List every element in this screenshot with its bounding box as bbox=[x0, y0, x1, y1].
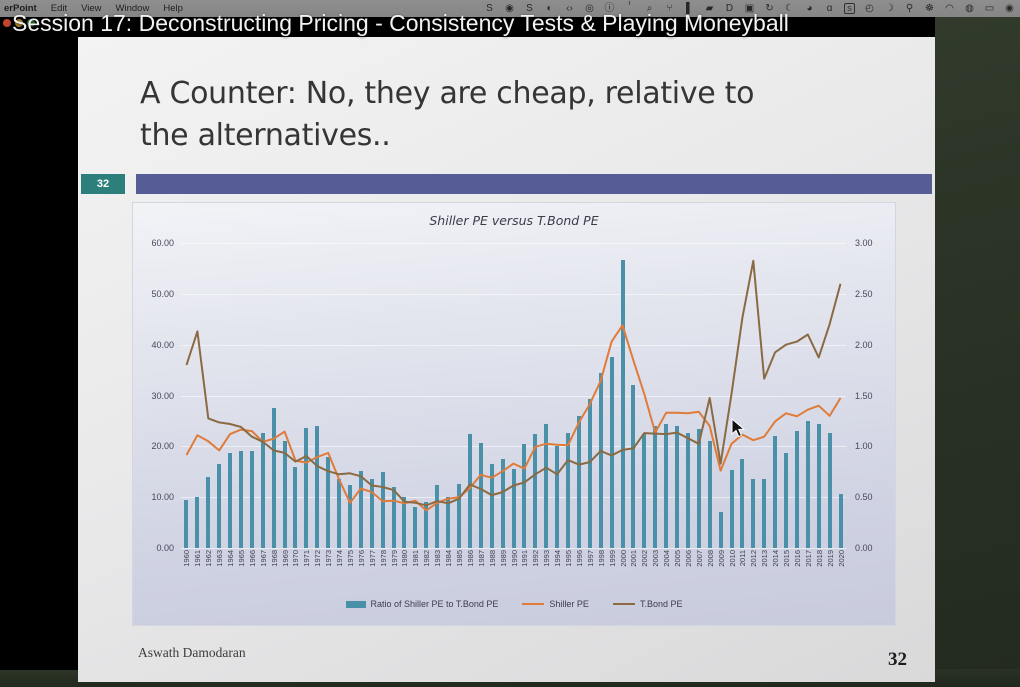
y-axis-right-tick: 0.00 bbox=[855, 543, 873, 553]
legend-item: Shiller PE bbox=[522, 599, 589, 609]
slide-number-badge: 32 bbox=[81, 174, 125, 194]
slide-page-number: 32 bbox=[888, 649, 907, 671]
x-axis-tick-label: 2011 bbox=[738, 550, 747, 566]
chart-legend: Ratio of Shiller PE to T.Bond PEShiller … bbox=[133, 599, 895, 609]
x-axis-tick-label: 1990 bbox=[510, 550, 519, 567]
x-axis-tick-label: 1982 bbox=[422, 550, 431, 567]
x-axis-tick-label: 1973 bbox=[324, 550, 333, 567]
mouse-pointer-icon bbox=[731, 418, 747, 440]
x-axis-tick-label: 2020 bbox=[837, 550, 846, 567]
chart-line-t-bond-pe bbox=[187, 261, 841, 506]
y-axis-right-tick: 1.00 bbox=[855, 441, 873, 451]
x-axis-tick-label: 1993 bbox=[542, 550, 551, 567]
x-axis-tick-label: 2002 bbox=[640, 550, 649, 567]
x-axis-tick-label: 2000 bbox=[619, 550, 628, 567]
legend-swatch bbox=[613, 603, 635, 606]
x-axis-tick-label: 1970 bbox=[291, 550, 300, 567]
x-axis-tick-label: 1979 bbox=[390, 550, 399, 567]
x-axis-tick-label: 2017 bbox=[804, 550, 813, 567]
y-axis-left-tick: 60.00 bbox=[151, 238, 174, 248]
x-axis-tick-label: 1967 bbox=[259, 550, 268, 567]
x-axis-tick-label: 1985 bbox=[455, 550, 464, 567]
x-axis-tick-label: 2007 bbox=[695, 550, 704, 567]
legend-label: Ratio of Shiller PE to T.Bond PE bbox=[371, 599, 499, 609]
chart-container: Shiller PE versus T.Bond PE 0.0010.0020.… bbox=[132, 202, 896, 626]
x-axis-tick-label: 1961 bbox=[193, 550, 202, 567]
x-axis-tick-label: 1975 bbox=[346, 550, 355, 567]
legend-swatch bbox=[346, 601, 366, 608]
x-axis-tick-label: 1988 bbox=[488, 550, 497, 567]
slide-title-line-1: A Counter: No, they are cheap, relative … bbox=[140, 73, 900, 115]
slide-title-line-2: the alternatives.. bbox=[140, 115, 900, 157]
slide-author: Aswath Damodaran bbox=[138, 645, 246, 661]
x-axis-tick-label: 2003 bbox=[651, 550, 660, 567]
y-axis-left-tick: 40.00 bbox=[151, 340, 174, 350]
legend-label: Shiller PE bbox=[549, 599, 589, 609]
y-axis-right-tick: 2.00 bbox=[855, 340, 873, 350]
x-axis-tick-label: 1991 bbox=[520, 550, 529, 567]
x-axis-tick-label: 2013 bbox=[760, 550, 769, 567]
gridline bbox=[181, 548, 846, 549]
x-axis-tick-label: 2016 bbox=[793, 550, 802, 567]
slide-divider-row: 32 bbox=[78, 174, 935, 194]
x-axis-tick-label: 1994 bbox=[553, 550, 562, 567]
x-axis-tick-label: 1995 bbox=[564, 550, 573, 567]
x-axis-tick-label: 2018 bbox=[815, 550, 824, 567]
legend-swatch bbox=[522, 603, 544, 606]
y-axis-right-tick: 0.50 bbox=[855, 492, 873, 502]
x-axis-tick-label: 1971 bbox=[302, 550, 311, 567]
x-axis-tick-label: 1969 bbox=[281, 550, 290, 567]
x-axis-tick-label: 1992 bbox=[531, 550, 540, 567]
x-axis-tick-label: 2004 bbox=[662, 550, 671, 567]
x-axis-tick-label: 2008 bbox=[706, 550, 715, 567]
x-axis-tick-label: 2005 bbox=[673, 550, 682, 567]
chart-line-series bbox=[181, 243, 846, 548]
x-axis-tick-label: 1963 bbox=[215, 550, 224, 567]
chart-x-axis-labels: 1960196119621963196419651966196719681969… bbox=[181, 550, 846, 594]
x-axis-tick-label: 1984 bbox=[444, 550, 453, 567]
x-axis-tick-label: 1980 bbox=[400, 550, 409, 567]
x-axis-tick-label: 2006 bbox=[684, 550, 693, 567]
x-axis-tick-label: 1986 bbox=[466, 550, 475, 567]
y-axis-right-tick: 3.00 bbox=[855, 238, 873, 248]
x-axis-tick-label: 1965 bbox=[237, 550, 246, 567]
y-axis-left-tick: 50.00 bbox=[151, 289, 174, 299]
x-axis-tick-label: 2012 bbox=[749, 550, 758, 567]
x-axis-tick-label: 2015 bbox=[782, 550, 791, 567]
chart-plot-area: 0.0010.0020.0030.0040.0050.0060.00 0.000… bbox=[181, 243, 846, 548]
x-axis-tick-label: 1981 bbox=[411, 550, 420, 567]
x-axis-tick-label: 1976 bbox=[357, 550, 366, 567]
y-axis-left-tick: 30.00 bbox=[151, 391, 174, 401]
legend-item: Ratio of Shiller PE to T.Bond PE bbox=[346, 599, 499, 609]
x-axis-tick-label: 1978 bbox=[379, 550, 388, 567]
chart-title: Shiller PE versus T.Bond PE bbox=[133, 213, 895, 228]
y-axis-right-tick: 1.50 bbox=[855, 391, 873, 401]
x-axis-tick-label: 1989 bbox=[499, 550, 508, 567]
x-axis-tick-label: 1964 bbox=[226, 550, 235, 567]
screen: A Counter: No, they are cheap, relative … bbox=[0, 0, 1020, 687]
x-axis-tick-label: 2014 bbox=[771, 550, 780, 567]
slide-title: A Counter: No, they are cheap, relative … bbox=[140, 73, 900, 157]
powerpoint-window: A Counter: No, they are cheap, relative … bbox=[0, 17, 935, 670]
x-axis-tick-label: 2010 bbox=[728, 550, 737, 567]
x-axis-tick-label: 2001 bbox=[629, 550, 638, 567]
x-axis-tick-label: 2019 bbox=[826, 550, 835, 567]
slide-canvas: A Counter: No, they are cheap, relative … bbox=[78, 37, 935, 682]
close-button[interactable] bbox=[3, 19, 11, 27]
y-axis-left-tick: 0.00 bbox=[156, 543, 174, 553]
x-axis-tick-label: 2009 bbox=[717, 550, 726, 567]
y-axis-right-tick: 2.50 bbox=[855, 289, 873, 299]
x-axis-tick-label: 1966 bbox=[248, 550, 257, 567]
x-axis-tick-label: 1997 bbox=[586, 550, 595, 567]
legend-label: T.Bond PE bbox=[640, 599, 683, 609]
x-axis-tick-label: 1962 bbox=[204, 550, 213, 567]
x-axis-tick-label: 1974 bbox=[335, 550, 344, 567]
x-axis-tick-label: 1987 bbox=[477, 550, 486, 567]
slide-accent-bar bbox=[136, 174, 932, 194]
x-axis-tick-label: 1968 bbox=[270, 550, 279, 567]
y-axis-left-tick: 20.00 bbox=[151, 441, 174, 451]
x-axis-tick-label: 1998 bbox=[597, 550, 606, 567]
legend-item: T.Bond PE bbox=[613, 599, 683, 609]
window-title: Session 17: Deconstructing Pricing - Con… bbox=[12, 10, 1012, 37]
y-axis-left-tick: 10.00 bbox=[151, 492, 174, 502]
x-axis-tick-label: 1960 bbox=[182, 550, 191, 567]
x-axis-tick-label: 1996 bbox=[575, 550, 584, 567]
x-axis-tick-label: 1999 bbox=[608, 550, 617, 567]
x-axis-tick-label: 1983 bbox=[433, 550, 442, 567]
x-axis-tick-label: 1977 bbox=[368, 550, 377, 567]
x-axis-tick-label: 1972 bbox=[313, 550, 322, 567]
